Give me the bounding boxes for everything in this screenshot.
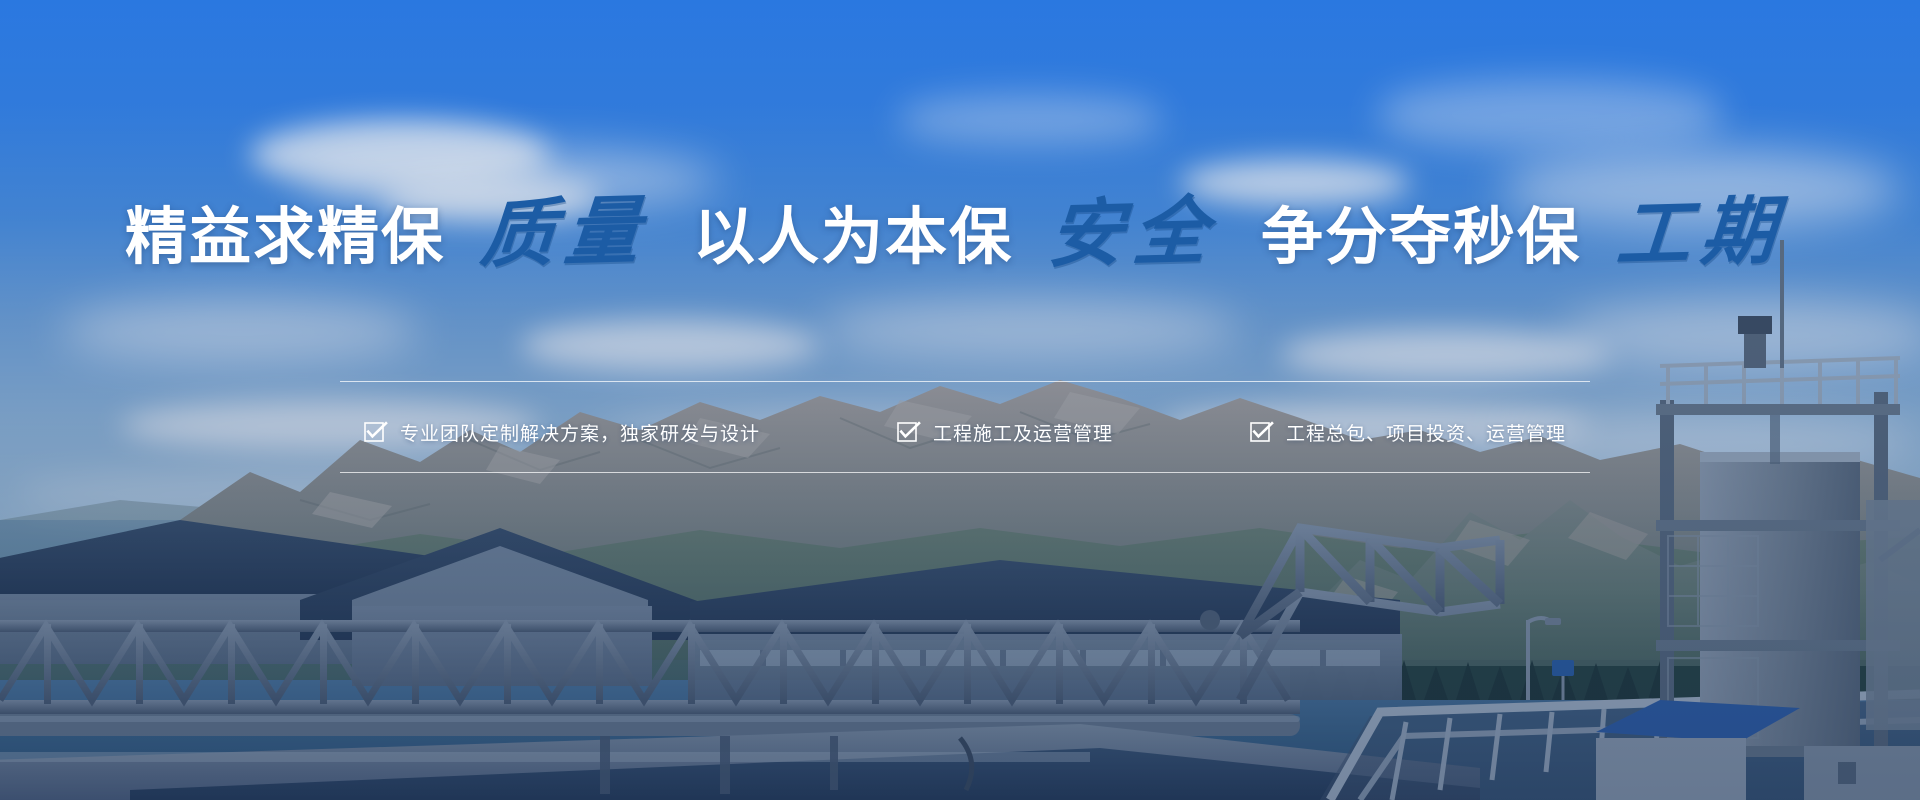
feature-item-2: 工程施工及运营管理 [897, 419, 1113, 446]
feature-item-1: 专业团队定制解决方案，独家研发与设计 [364, 419, 760, 446]
feature-label: 专业团队定制解决方案，独家研发与设计 [400, 419, 760, 446]
banner-text-overlay: 精益求精保质量以人为本保安全争分夺秒保工期 专业团队定制解决方案，独家研发与设计 [0, 0, 1920, 800]
headline-segment-5: 争分夺秒保 [1261, 206, 1581, 268]
feature-label: 工程总包、项目投资、运营管理 [1286, 419, 1566, 446]
headline: 精益求精保质量以人为本保安全争分夺秒保工期 [0, 196, 1920, 270]
divider-bottom [340, 472, 1590, 473]
checkbox-checked-icon [364, 422, 384, 442]
checkbox-checked-icon [1250, 422, 1270, 442]
feature-list: 专业团队定制解决方案，独家研发与设计 工程施工及运营管理 [340, 392, 1590, 472]
feature-item-3: 工程总包、项目投资、运营管理 [1250, 419, 1566, 446]
headline-segment-6-calligraphy: 工期 [1604, 194, 1798, 273]
feature-label: 工程施工及运营管理 [933, 419, 1113, 446]
hero-banner: 精益求精保质量以人为本保安全争分夺秒保工期 专业团队定制解决方案，独家研发与设计 [0, 0, 1920, 800]
headline-segment-4-calligraphy: 安全 [1036, 194, 1230, 273]
headline-segment-3: 以人为本保 [693, 206, 1013, 268]
headline-segment-1: 精益求精保 [125, 206, 445, 268]
checkbox-checked-icon [897, 422, 917, 442]
headline-segment-2-calligraphy: 质量 [468, 194, 662, 273]
divider-top [340, 381, 1590, 382]
